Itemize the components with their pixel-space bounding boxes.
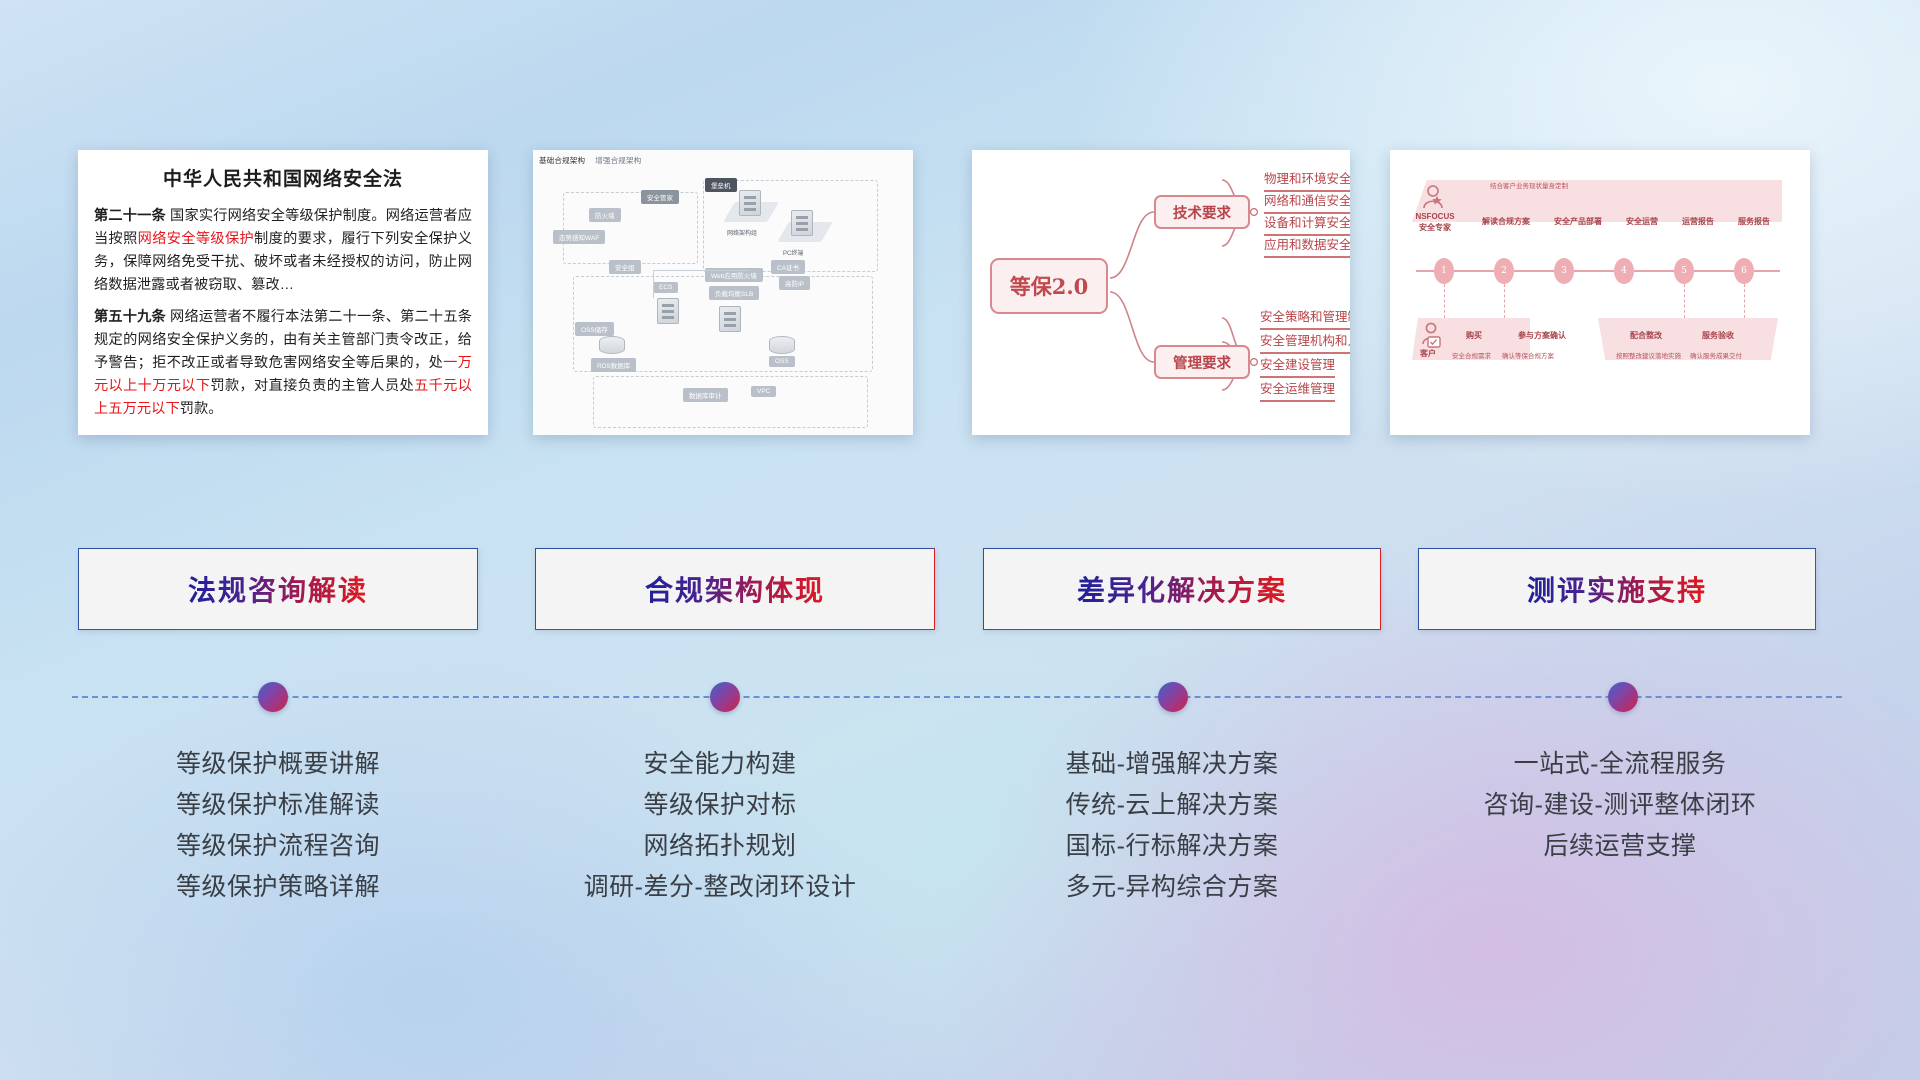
headline-title-2: 合规架构体现 — [645, 569, 825, 609]
list-item: 一站式-全流程服务 — [1400, 744, 1840, 785]
list-item: 等级保护概要讲解 — [58, 744, 498, 785]
headline-box-1[interactable]: 法规咨询解读 — [78, 548, 478, 630]
bullet-column-3: 基础-增强解决方案 传统-云上解决方案 国标-行标解决方案 多元-异构综合方案 — [952, 744, 1392, 908]
headline-title-3: 差异化解决方案 — [1077, 569, 1287, 609]
timeline-dot-2[interactable] — [710, 682, 740, 712]
timeline-dot-4[interactable] — [1608, 682, 1638, 712]
headline-box-3[interactable]: 差异化解决方案 — [983, 548, 1381, 630]
list-item: 国标-行标解决方案 — [952, 826, 1392, 867]
list-item: 等级保护对标 — [500, 785, 940, 826]
list-item: 等级保护流程咨询 — [58, 826, 498, 867]
list-item: 安全能力构建 — [500, 744, 940, 785]
timeline-dot-3[interactable] — [1158, 682, 1188, 712]
list-item: 传统-云上解决方案 — [952, 785, 1392, 826]
headline-title-4: 测评实施支持 — [1527, 569, 1707, 609]
list-item: 基础-增强解决方案 — [952, 744, 1392, 785]
bullet-column-4: 一站式-全流程服务 咨询-建设-测评整体闭环 后续运营支撑 — [1400, 744, 1840, 867]
list-item: 调研-差分-整改闭环设计 — [500, 867, 940, 908]
list-item: 多元-异构综合方案 — [952, 867, 1392, 908]
bullet-column-2: 安全能力构建 等级保护对标 网络拓扑规划 调研-差分-整改闭环设计 — [500, 744, 940, 908]
list-item: 等级保护标准解读 — [58, 785, 498, 826]
list-item: 后续运营支撑 — [1400, 826, 1840, 867]
timeline-dot-1[interactable] — [258, 682, 288, 712]
headline-title-1: 法规咨询解读 — [188, 569, 368, 609]
headline-row: 法规咨询解读 合规架构体现 差异化解决方案 测评实施支持 等级保护概要讲解 等级… — [0, 0, 1920, 1080]
headline-box-4[interactable]: 测评实施支持 — [1418, 548, 1816, 630]
timeline-rail — [72, 696, 1842, 698]
list-item: 等级保护策略详解 — [58, 867, 498, 908]
list-item: 网络拓扑规划 — [500, 826, 940, 867]
list-item: 咨询-建设-测评整体闭环 — [1400, 785, 1840, 826]
headline-box-2[interactable]: 合规架构体现 — [535, 548, 935, 630]
bullet-column-1: 等级保护概要讲解 等级保护标准解读 等级保护流程咨询 等级保护策略详解 — [58, 744, 498, 908]
